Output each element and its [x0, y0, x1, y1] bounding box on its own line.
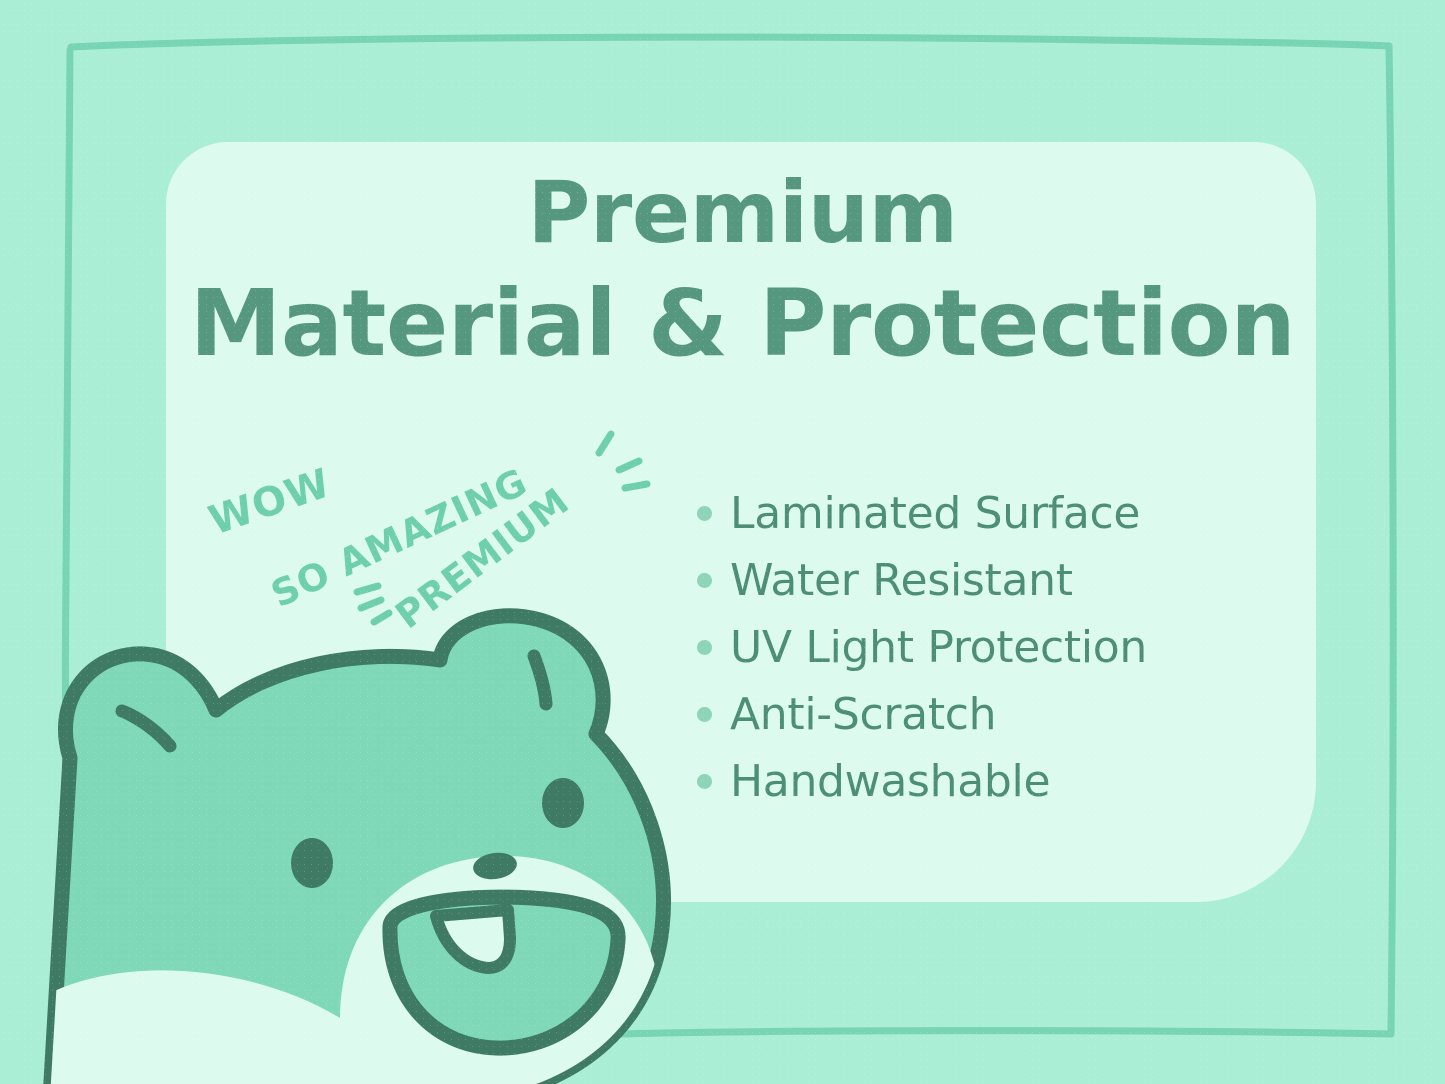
feature-label: Water Resistant	[730, 559, 1073, 603]
feature-label: Laminated Surface	[730, 492, 1140, 536]
page-title: Premium Material & Protection	[180, 170, 1305, 370]
bear-right-eye	[542, 778, 584, 828]
bullet-dot-icon	[697, 506, 712, 521]
title-line-1: Premium	[180, 170, 1305, 256]
feature-label: UV Light Protection	[730, 626, 1147, 670]
feature-list: Laminated Surface Water Resistant UV Lig…	[697, 480, 1147, 815]
bullet-dot-icon	[697, 573, 712, 588]
list-item: Anti-Scratch	[697, 681, 1147, 748]
bear-left-eye	[291, 838, 333, 888]
doodle-line-wow: WOW	[203, 460, 336, 544]
feature-label: Anti-Scratch	[730, 693, 996, 737]
poster-canvas: Premium Material & Protection WOW SO AMA…	[0, 0, 1445, 1084]
bear-illustration	[40, 598, 720, 1084]
list-item: Handwashable	[697, 748, 1147, 815]
list-item: Laminated Surface	[697, 480, 1147, 547]
list-item: Water Resistant	[697, 547, 1147, 614]
list-item: UV Light Protection	[697, 614, 1147, 681]
title-line-2: Material & Protection	[180, 278, 1305, 370]
feature-label: Handwashable	[730, 760, 1050, 804]
